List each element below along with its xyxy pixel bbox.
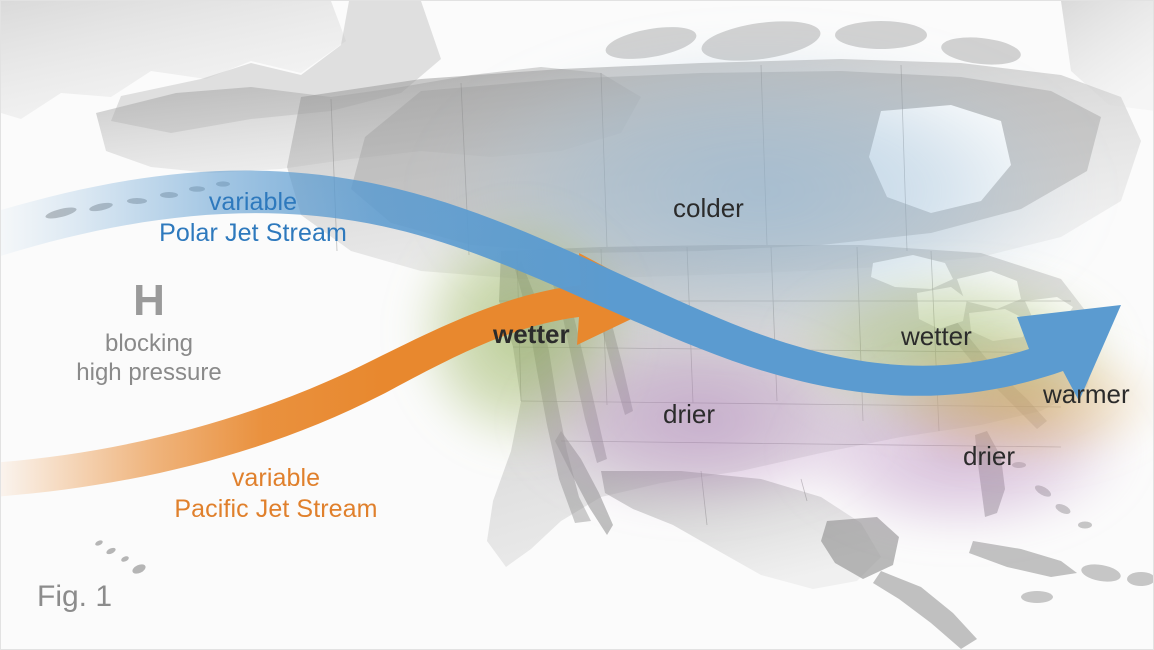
climate-map-figure: variable Polar Jet Stream variable Pacif… [0, 0, 1154, 650]
north-america-map [1, 1, 1154, 650]
